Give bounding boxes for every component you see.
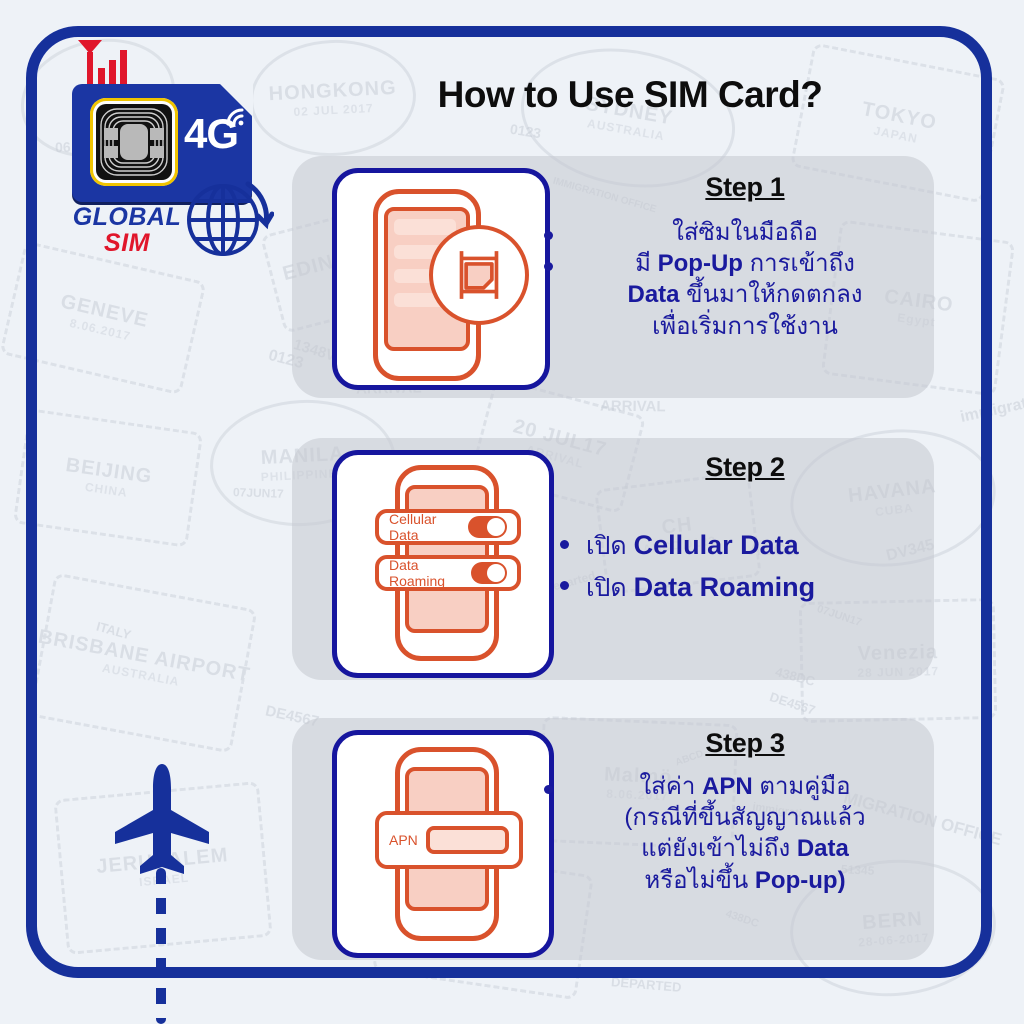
- step-body-line: ใส่ค่า APN ตามคู่มือ: [570, 771, 920, 802]
- watermark-text: 0123: [509, 121, 542, 142]
- step-3-label: Step 3: [570, 728, 920, 759]
- emphasis-text: Data: [797, 835, 849, 862]
- step-2-illustration-card: Cellular Data Data Roaming: [332, 450, 554, 678]
- body-text: เปิด: [586, 574, 634, 602]
- step-body-line: Data ขึ้นมาให้กดตกลง: [570, 279, 920, 310]
- step-body-line: แต่ยังเข้าไม่ถึง Data: [570, 833, 920, 864]
- bullet-icon: [560, 540, 569, 549]
- toggle-label: Data Roaming: [389, 557, 471, 589]
- emphasis-text: Pop-Up: [658, 250, 743, 277]
- step-3-text: Step 3 ใส่ค่า APN ตามคู่มือ(กรณีที่ขึ้นส…: [570, 728, 920, 896]
- watermark-text: ITALY: [94, 619, 132, 643]
- step-1-body: ใส่ซิมในมือถือมี Pop-Up การเข้าถึงData ข…: [570, 217, 920, 342]
- sim-chip-icon: [90, 98, 178, 186]
- signal-bars-icon: [72, 38, 134, 86]
- body-text: มี: [635, 250, 658, 277]
- dashed-flight-path: [156, 868, 166, 1024]
- bullet-icon: [544, 785, 553, 794]
- apn-input[interactable]: [426, 826, 509, 854]
- emphasis-text: Pop-up): [755, 867, 846, 894]
- sim-card-insert-icon: [429, 225, 529, 325]
- toggle-label: Cellular Data: [389, 511, 468, 543]
- body-text: แต่ยังเข้าไม่ถึง: [641, 835, 797, 862]
- step-body-line: เพื่อเริ่มการใช้งาน: [570, 311, 920, 342]
- emphasis-text: Data Roaming: [634, 572, 816, 602]
- emphasis-text: APN: [702, 773, 753, 800]
- apn-label: APN: [389, 832, 418, 848]
- body-text: ตามคู่มือ: [753, 773, 851, 800]
- globe-icon: [178, 168, 274, 264]
- toggle-switch-data-roaming[interactable]: [471, 562, 507, 584]
- watermark-text: ARRIVAL: [600, 397, 666, 415]
- page-title: How to Use SIM Card?: [350, 74, 910, 116]
- step-body-line: มี Pop-Up การเข้าถึง: [570, 248, 920, 279]
- step-2-text: Step 2 เปิด Cellular Dataเปิด Data Roami…: [570, 452, 920, 609]
- toggle-row-cellular-data[interactable]: Cellular Data: [375, 509, 521, 545]
- body-text: (กรณีที่ขึ้นสัญญาณแล้ว: [624, 804, 865, 831]
- step-body-line: เปิด Data Roaming: [586, 567, 920, 609]
- brand-line-global: GLOBAL: [62, 204, 192, 230]
- step-1-label: Step 1: [570, 172, 920, 203]
- wifi-waves-icon: [224, 100, 252, 128]
- brand-line-sim: SIM: [62, 230, 192, 256]
- apn-input-row[interactable]: APN: [375, 811, 523, 869]
- step-2-body: เปิด Cellular Dataเปิด Data Roaming: [570, 525, 920, 609]
- step-3-illustration-card: APN: [332, 730, 554, 958]
- watermark-text: DE4567: [768, 689, 817, 718]
- global-sim-logo: 4G GLOBAL SIM: [62, 38, 292, 283]
- body-text: ใส่ค่า: [639, 773, 702, 800]
- watermark-stamp: BRISBANE AIRPORTAUSTRALIA: [28, 572, 257, 753]
- step-body-line: ใส่ซิมในมือถือ: [570, 217, 920, 248]
- watermark-text: immigration officer: [958, 379, 1024, 427]
- body-text: ขึ้นมาให้กดตกลง: [680, 281, 863, 308]
- step-1-text: Step 1 ใส่ซิมในมือถือมี Pop-Up การเข้าถึ…: [570, 172, 920, 342]
- airplane-icon: [104, 760, 220, 876]
- step-body-line: เปิด Cellular Data: [586, 525, 920, 567]
- bullet-icon: [544, 231, 553, 240]
- body-text: เพื่อเริ่มการใช้งาน: [652, 313, 838, 340]
- step-2-label: Step 2: [570, 452, 920, 483]
- body-text: ใส่ซิมในมือถือ: [672, 219, 818, 246]
- body-text: หรือไม่ขึ้น: [644, 867, 755, 894]
- body-text: เปิด: [586, 532, 634, 560]
- body-text: การเข้าถึง: [743, 250, 855, 277]
- step-3-body: ใส่ค่า APN ตามคู่มือ(กรณีที่ขึ้นสัญญาณแล…: [570, 771, 920, 896]
- step-body-line: หรือไม่ขึ้น Pop-up): [570, 865, 920, 896]
- watermark-text: 07JUN17: [233, 486, 284, 502]
- step-1-illustration-card: [332, 168, 550, 390]
- step-body-line: (กรณีที่ขึ้นสัญญาณแล้ว: [570, 802, 920, 833]
- toggle-switch-cellular-data[interactable]: [468, 516, 507, 538]
- brand-wordmark: GLOBAL SIM: [62, 204, 192, 257]
- emphasis-text: Data: [627, 281, 679, 308]
- emphasis-text: Cellular Data: [634, 530, 799, 560]
- watermark-stamp: BEIJINGCHINA: [13, 408, 204, 548]
- toggle-row-data-roaming[interactable]: Data Roaming: [375, 555, 521, 591]
- chip-contacts: [96, 104, 172, 180]
- watermark-text: DEPARTED: [611, 974, 683, 995]
